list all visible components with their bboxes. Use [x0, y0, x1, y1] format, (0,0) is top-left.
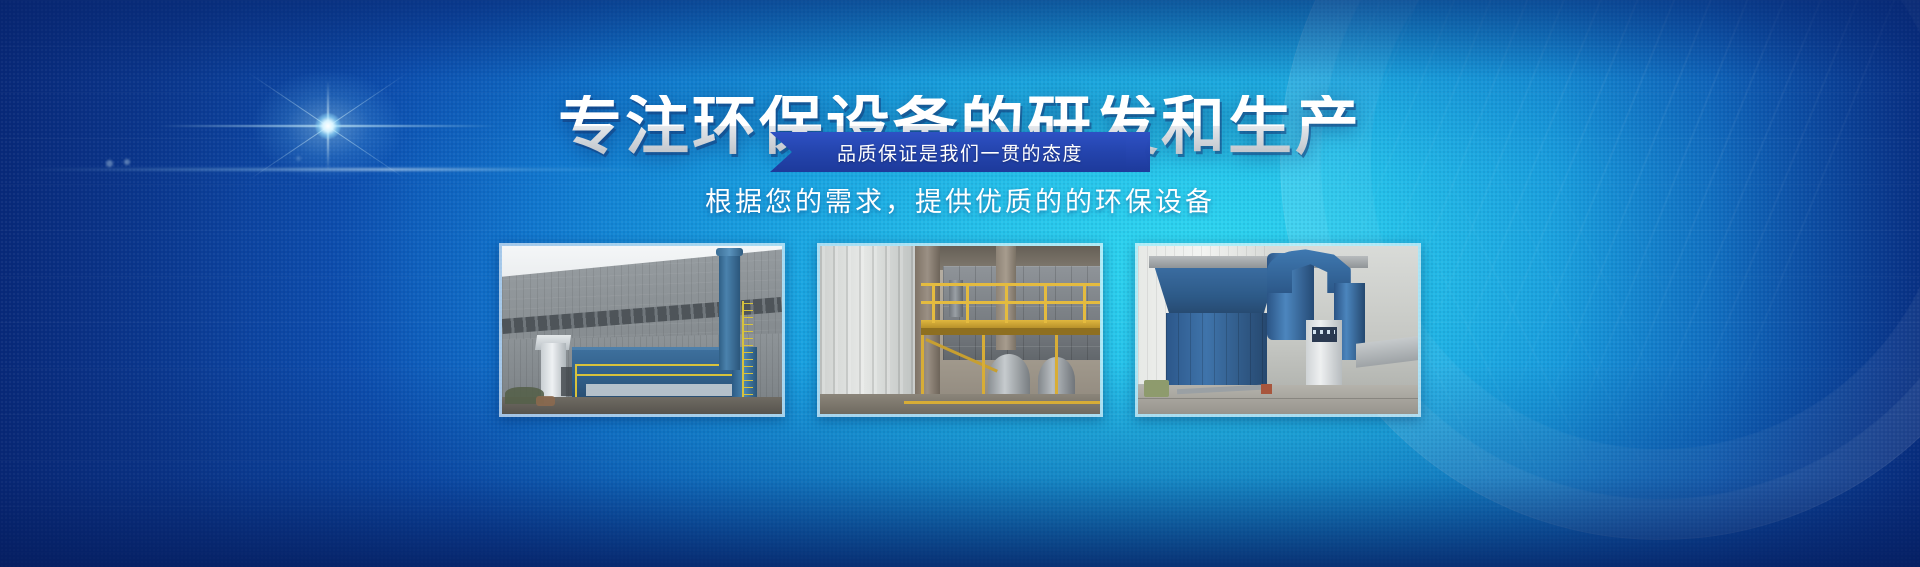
- gallery-photo-2[interactable]: [817, 243, 1103, 417]
- promo-banner: 专注环保设备的研发和生产 品质保证是我们一贯的态度 根据您的需求，提供优质的的环…: [0, 0, 1920, 567]
- gallery-photo-3[interactable]: [1135, 243, 1421, 417]
- gallery-photo-3-image: [1138, 246, 1418, 414]
- gallery-photo-1-image: [502, 246, 782, 414]
- ribbon-label: 品质保证是我们一贯的态度: [770, 132, 1150, 172]
- page-subtitle: 根据您的需求，提供优质的的环保设备: [0, 180, 1920, 219]
- gallery-photo-1[interactable]: [499, 243, 785, 417]
- gallery-photo-2-image: [820, 246, 1100, 414]
- product-photo-gallery: [0, 243, 1920, 417]
- tagline-ribbon: 品质保证是我们一贯的态度: [770, 132, 1150, 172]
